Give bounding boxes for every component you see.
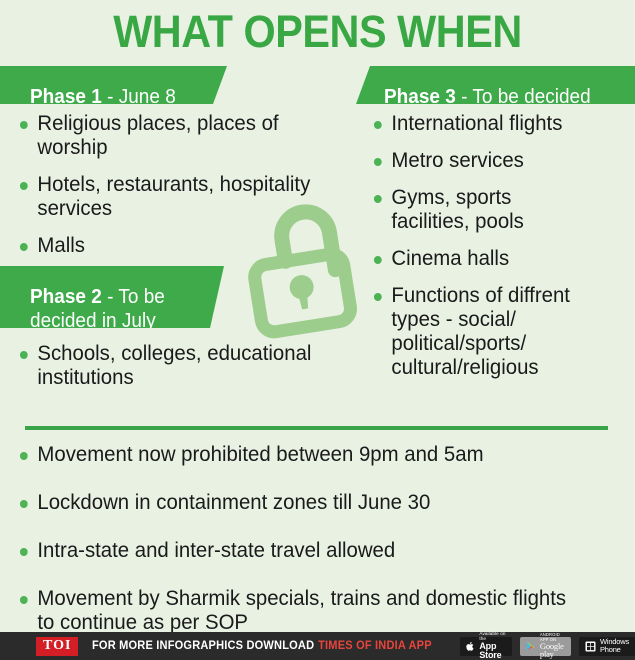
google-play-badge[interactable]: ANDROID APP ON Google play [520, 637, 571, 656]
phase-3-list: International flights Metro services Gym… [372, 112, 622, 393]
list-item: Schools, colleges, educational instituti… [18, 342, 338, 390]
bullet-dot-icon [20, 596, 28, 604]
bullet-dot-icon [374, 158, 382, 166]
list-item: Gyms, sports facilities, pools [372, 186, 615, 234]
phase-3-separator: - [456, 86, 473, 108]
list-item: Lockdown in containment zones till June … [18, 491, 600, 515]
footer-promo-text: FOR MORE INFOGRAPHICS DOWNLOADTIMES OF I… [92, 640, 432, 652]
footer-promo-label: FOR MORE INFOGRAPHICS DOWNLOAD [92, 640, 314, 652]
page-title: WHAT OPENS WHEN [25, 6, 609, 58]
phase-3-banner: Phase 3 - To be decided [356, 66, 635, 104]
bullet-dot-icon [20, 500, 28, 508]
bullet-dot-icon [374, 293, 382, 301]
apple-icon [466, 641, 475, 652]
list-item: Metro services [372, 149, 615, 173]
phase-2-banner: Phase 2 - To be decided in July [0, 266, 224, 328]
google-play-badge-label: Google play [540, 642, 565, 659]
list-item: Functions of diffrent types - social/ po… [372, 284, 615, 380]
windows-phone-badge-label: Windows Phone [600, 638, 629, 655]
phase-2-separator: - [102, 286, 119, 308]
list-item: Intra-state and inter-state travel allow… [18, 539, 600, 563]
windows-icon [585, 641, 596, 652]
store-badges: Available on the App Store AN [460, 637, 635, 656]
phase-2-name: Phase 2 [30, 286, 102, 308]
list-item: Cinema halls [372, 247, 615, 271]
list-item: Hotels, restaurants, hospitality service… [18, 173, 353, 221]
phase-1-banner: Phase 1 - June 8 [0, 66, 227, 104]
list-item: Malls [18, 234, 353, 258]
footer-bar: TOI FOR MORE INFOGRAPHICS DOWNLOADTIMES … [0, 632, 635, 660]
google-play-icon [526, 641, 536, 652]
bullet-dot-icon [374, 195, 382, 203]
list-item: Religious places, places of worship [18, 112, 353, 160]
phase-3-name: Phase 3 [384, 86, 456, 108]
bullet-dot-icon [374, 121, 382, 129]
phase-3-detail: To be decided [472, 86, 590, 108]
phase-2-list: Schools, colleges, educational instituti… [18, 342, 348, 403]
bullet-dot-icon [20, 121, 28, 129]
phase-1-separator: - [102, 86, 119, 108]
list-item: Movement by Sharmik specials, trains and… [18, 587, 600, 635]
toi-logo: TOI [36, 637, 78, 656]
infographic-canvas: WHAT OPENS WHEN Phase 1 - June 8 Religio… [0, 0, 635, 660]
bullet-dot-icon [20, 351, 28, 359]
general-rules-list: Movement now prohibited between 9pm and … [18, 443, 618, 659]
bullet-dot-icon [20, 548, 28, 556]
list-item: International flights [372, 112, 615, 136]
list-item: Movement now prohibited between 9pm and … [18, 443, 600, 467]
windows-phone-badge[interactable]: Windows Phone [579, 637, 635, 656]
bullet-dot-icon [20, 243, 28, 251]
phase-1-name: Phase 1 [30, 86, 102, 108]
bullet-dot-icon [20, 452, 28, 460]
phase-1-list: Religious places, places of worship Hote… [18, 112, 363, 271]
bullet-dot-icon [374, 256, 382, 264]
footer-app-name: TIMES OF INDIA APP [319, 640, 433, 652]
bullet-dot-icon [20, 182, 28, 190]
phase-1-detail: June 8 [119, 86, 176, 108]
section-divider [25, 426, 608, 430]
app-store-badge-label: App Store [479, 642, 506, 660]
app-store-badge[interactable]: Available on the App Store [460, 637, 512, 656]
